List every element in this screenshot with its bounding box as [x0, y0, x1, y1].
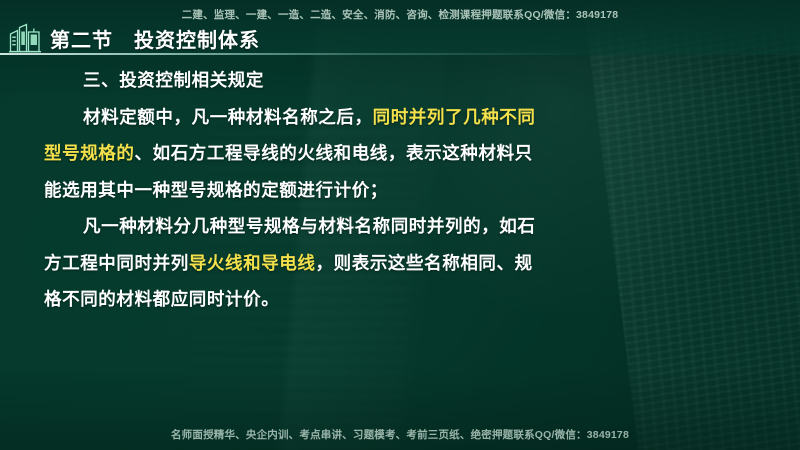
body-text: 能选用其中一种型号规格的定额进行计价； — [44, 180, 388, 200]
page-title: 第二节 投资控制体系 — [50, 24, 260, 53]
body-text: 方工程中同时并列 — [44, 253, 189, 273]
content-line: 能选用其中一种型号规格的定额进行计价； — [0, 172, 800, 209]
top-promo-banner: 二建、监理、一建、一造、二造、安全、消防、咨询、检测课程押题联系QQ/微信：38… — [0, 7, 800, 22]
content-line: 凡一种材料分几种型号规格与材料名称同时并列的，如石 — [0, 208, 800, 245]
building-icon — [8, 23, 42, 53]
slide-title-row: 第二节 投资控制体系 — [8, 22, 260, 54]
header-bar: 二建、监理、一建、一造、二造、安全、消防、咨询、检测课程押题联系QQ/微信：38… — [0, 0, 800, 55]
presentation-slide: 二建、监理、一建、一造、二造、安全、消防、咨询、检测课程押题联系QQ/微信：38… — [0, 0, 800, 450]
content-line: 方工程中同时并列导火线和导电线，则表示这些名称相同、规 — [0, 245, 800, 282]
slide-body: 三、投资控制相关规定 材料定额中，凡一种材料名称之后，同时并列了几种不同型号规格… — [0, 62, 800, 318]
body-text: ，则表示这些名称相同、规 — [316, 253, 533, 273]
content-line: 材料定额中，凡一种材料名称之后，同时并列了几种不同 — [0, 99, 800, 136]
bottom-promo-banner: 名师面授精华、央企内训、考点串讲、习题模考、考前三页纸、绝密押题联系QQ/微信：… — [0, 427, 800, 442]
title-divider — [0, 53, 580, 55]
body-text: 、如石方工程导线的火线和电线，表示这种材料只 — [135, 143, 533, 163]
highlighted-text: 同时并列了几种不同 — [373, 107, 536, 127]
highlighted-text: 导火线和导电线 — [189, 253, 316, 273]
content-line: 格不同的材料都应同时计价。 — [0, 281, 800, 318]
content-heading: 三、投资控制相关规定 — [0, 62, 800, 99]
content-paragraphs: 材料定额中，凡一种材料名称之后，同时并列了几种不同型号规格的、如石方工程导线的火… — [0, 99, 800, 318]
body-text: 凡一种材料分几种型号规格与材料名称同时并列的，如石 — [83, 216, 536, 236]
content-line: 型号规格的、如石方工程导线的火线和电线，表示这种材料只 — [0, 135, 800, 172]
body-text: 格不同的材料都应同时计价。 — [44, 289, 279, 309]
body-text: 材料定额中，凡一种材料名称之后， — [83, 107, 373, 127]
highlighted-text: 型号规格的 — [44, 143, 135, 163]
